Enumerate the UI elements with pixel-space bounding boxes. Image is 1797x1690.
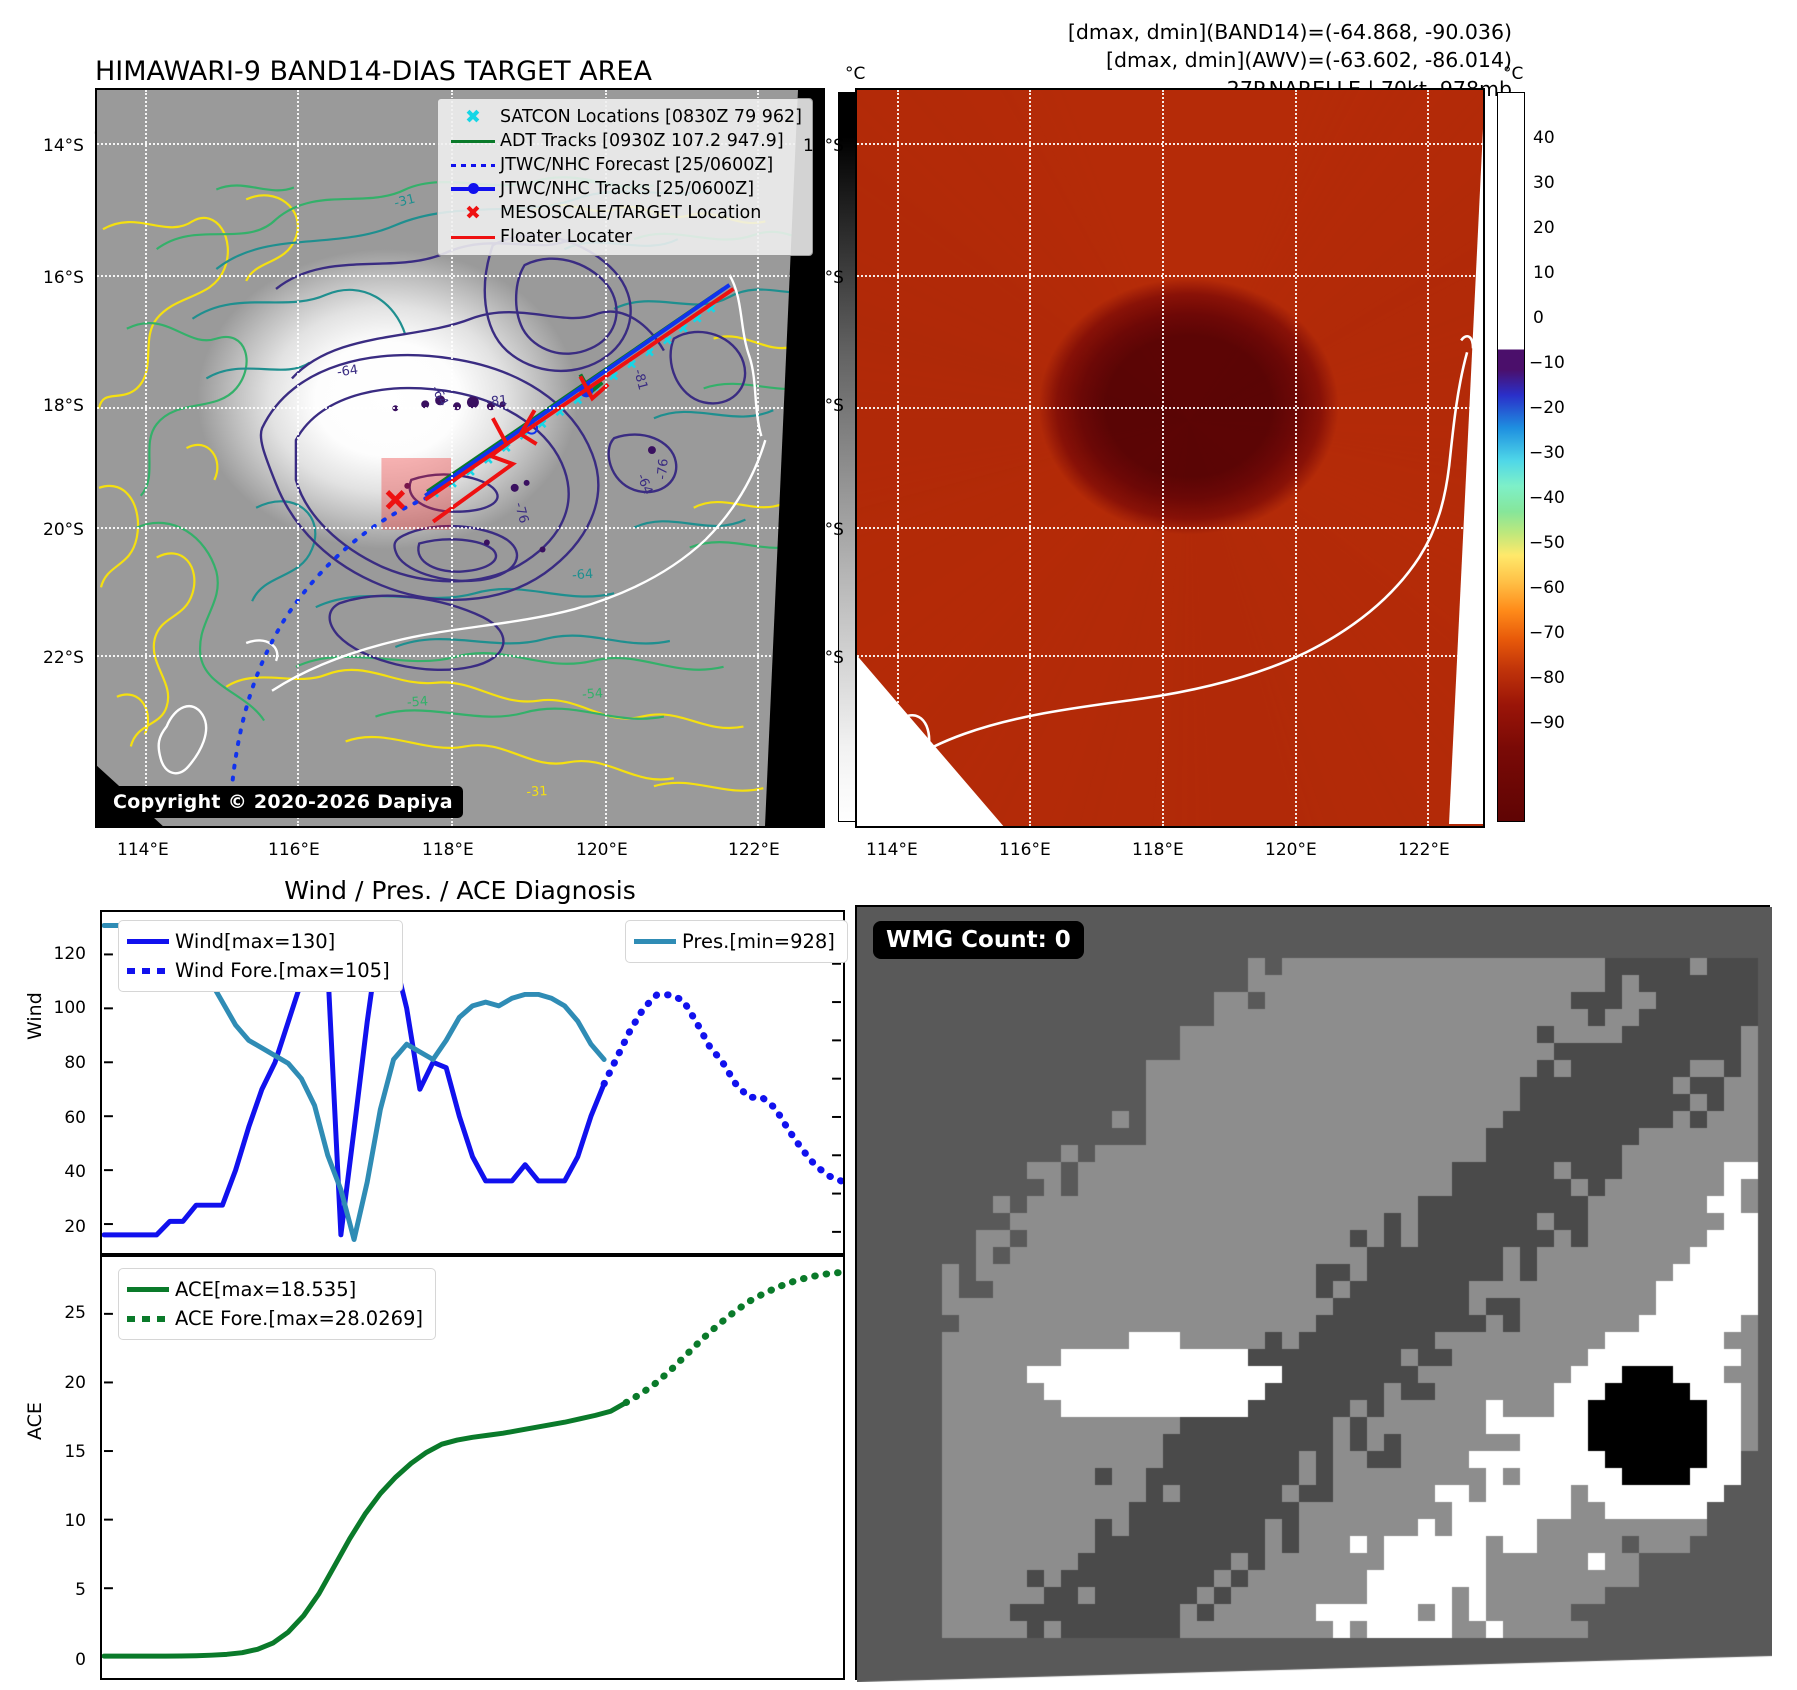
lon-tick: 114°E — [866, 840, 918, 860]
legend-item-adt: ADT Tracks [0930Z 107.2 947.9] — [446, 129, 802, 153]
grid-line — [145, 90, 147, 826]
cb-tick: 10 — [1533, 263, 1555, 283]
svg-text:-76: -76 — [511, 501, 531, 525]
cb-tick: 30 — [1533, 173, 1555, 193]
lat-tick: 16°S — [803, 268, 844, 288]
ir-colorbar-unit: °C — [845, 64, 865, 84]
legend-item-floater: Floater Locater — [446, 225, 802, 249]
grid-line — [297, 90, 299, 826]
map-legend: ✖ SATCON Locations [0830Z 79 962] ADT Tr… — [437, 98, 813, 256]
lat-tick: 18°S — [43, 396, 84, 416]
ace-line-icon — [127, 1287, 175, 1292]
cb-tick: −90 — [1529, 713, 1565, 733]
wmg-count-badge: WMG Count: 0 — [873, 921, 1084, 959]
y-tick: 15 — [64, 1442, 86, 1462]
pressure-legend: Pres.[min=928] — [625, 920, 848, 963]
lon-tick: 120°E — [576, 840, 628, 860]
grid-line — [97, 275, 823, 277]
grid-line — [857, 655, 1483, 657]
diagnosis-title: Wind / Pres. / ACE Diagnosis — [95, 876, 825, 905]
series-ace — [104, 1403, 626, 1657]
legend-item-wind-forecast: Wind Fore.[max=105] — [127, 956, 390, 985]
ace-forecast-dotted-icon — [127, 1316, 175, 1322]
lat-tick: 22°S — [803, 648, 844, 668]
legend-label: Wind Fore.[max=105] — [175, 959, 390, 982]
awv-range: [dmax, dmin](AWV)=(-63.602, -86.014) — [1068, 46, 1512, 74]
cb-tick: −70 — [1529, 623, 1565, 643]
svg-text:-64: -64 — [428, 383, 451, 409]
grid-line — [857, 527, 1483, 529]
legend-label: Pres.[min=928] — [682, 930, 835, 953]
grid-line — [1029, 90, 1031, 826]
contour-label: -64 — [336, 363, 359, 381]
cb-tick: −20 — [1529, 398, 1565, 418]
lon-tick: 116°E — [999, 840, 1051, 860]
cb-tick: −50 — [1529, 533, 1565, 553]
lon-tick: 116°E — [268, 840, 320, 860]
wind-legend: Wind[max=130] Wind Fore.[max=105] — [118, 920, 403, 992]
adt-line-icon — [446, 140, 500, 143]
y-tick: 100 — [54, 998, 86, 1018]
copyright-badge: Copyright © 2020-2026 Dapiya — [103, 786, 463, 818]
grid-line — [97, 655, 823, 657]
wmg-raster — [857, 907, 1772, 1682]
awv-map[interactable] — [855, 88, 1485, 828]
legend-label: JTWC/NHC Forecast [25/0600Z] — [500, 155, 773, 175]
y-tick: 5 — [75, 1580, 86, 1600]
awv-colorbar — [1497, 92, 1525, 822]
svg-text:-81: -81 — [630, 368, 650, 392]
mesoscale-x-icon: ✖ — [446, 202, 500, 224]
lat-tick: 20°S — [43, 520, 84, 540]
y-tick: 80 — [64, 1053, 86, 1073]
jtwc-forecast — [230, 498, 427, 806]
lon-tick: 114°E — [117, 840, 169, 860]
grid-line — [857, 407, 1483, 409]
ace-axis-title: ACE — [24, 1402, 46, 1440]
y-tick: 10 — [64, 1511, 86, 1531]
series-wind-fore- — [604, 995, 841, 1181]
legend-item-mesoscale: ✖ MESOSCALE/TARGET Location — [446, 201, 802, 225]
band14-range: [dmax, dmin](BAND14)=(-64.868, -90.036) — [1068, 18, 1512, 46]
legend-label: Wind[max=130] — [175, 930, 335, 953]
awv-image — [857, 90, 1483, 826]
dashboard-root: HIMAWARI-9 BAND14-DIAS TARGET AREA Time:… — [0, 0, 1797, 1690]
y-tick: 60 — [64, 1108, 86, 1128]
wind-axis-title: Wind — [24, 992, 46, 1040]
lon-tick: 122°E — [728, 840, 780, 860]
satcon-x-icon: ✖ — [446, 106, 500, 128]
lon-tick: 122°E — [1398, 840, 1450, 860]
legend-label: ADT Tracks [0930Z 107.2 947.9] — [500, 131, 784, 151]
wind-line-icon — [127, 939, 175, 944]
grid-line — [1427, 90, 1429, 826]
legend-item-pressure: Pres.[min=928] — [634, 927, 835, 956]
cb-tick: 20 — [1533, 218, 1555, 238]
pressure-line-icon — [634, 939, 682, 944]
ir-image: -64 -64 -81 -81 -64 -76 -76 -64 -31 -54 … — [97, 90, 823, 826]
lat-tick: 16°S — [43, 268, 84, 288]
svg-text:-64: -64 — [572, 567, 594, 583]
lat-tick: 18°S — [803, 396, 844, 416]
cb-tick: −10 — [1529, 353, 1565, 373]
grid-line — [1162, 90, 1164, 826]
series-ace-fore- — [626, 1272, 841, 1402]
legend-label: JTWC/NHC Tracks [25/0600Z] — [500, 179, 754, 199]
svg-text:-76: -76 — [655, 458, 672, 480]
legend-label: MESOSCALE/TARGET Location — [500, 203, 761, 223]
legend-label: Floater Locater — [500, 227, 632, 247]
legend-item-ace: ACE[max=18.535] — [127, 1275, 423, 1304]
lon-tick: 120°E — [1265, 840, 1317, 860]
y-tick: 120 — [54, 944, 86, 964]
y-tick: 0 — [75, 1650, 86, 1670]
forecast-dotted-icon — [446, 164, 500, 167]
legend-item-jtwc-tracks: JTWC/NHC Tracks [25/0600Z] — [446, 177, 802, 201]
lat-tick: 20°S — [803, 520, 844, 540]
grid-line — [1295, 90, 1297, 826]
svg-text:-54: -54 — [582, 686, 604, 702]
ace-legend: ACE[max=18.535] ACE Fore.[max=28.0269] — [118, 1268, 436, 1340]
y-tick: 20 — [64, 1217, 86, 1237]
svg-text:-64: -64 — [633, 472, 655, 497]
grid-line — [897, 90, 899, 826]
wind-forecast-dotted-icon — [127, 968, 175, 974]
product-title: HIMAWARI-9 BAND14-DIAS TARGET AREA — [95, 54, 652, 90]
legend-item-satcon: ✖ SATCON Locations [0830Z 79 962] — [446, 105, 802, 129]
legend-item-wind: Wind[max=130] — [127, 927, 390, 956]
legend-item-ace-forecast: ACE Fore.[max=28.0269] — [127, 1304, 423, 1333]
floater-line-icon — [446, 236, 500, 239]
lat-tick: 14°S — [43, 136, 84, 156]
y-tick: 40 — [64, 1162, 86, 1182]
grid-line — [97, 407, 823, 409]
svg-text:-54: -54 — [407, 694, 429, 710]
svg-text:-31: -31 — [393, 192, 417, 212]
track-node-icon — [446, 187, 500, 191]
grid-line — [97, 527, 823, 529]
legend-label: SATCON Locations [0830Z 79 962] — [500, 107, 802, 127]
legend-label: ACE Fore.[max=28.0269] — [175, 1307, 423, 1330]
y-tick: 20 — [64, 1373, 86, 1393]
lon-tick: 118°E — [1132, 840, 1184, 860]
cb-tick: −40 — [1529, 488, 1565, 508]
legend-label: ACE[max=18.535] — [175, 1278, 356, 1301]
cb-tick: 40 — [1533, 128, 1555, 148]
cb-tick: −60 — [1529, 578, 1565, 598]
cb-tick: −80 — [1529, 668, 1565, 688]
legend-item-jtwc-forecast: JTWC/NHC Forecast [25/0600Z] — [446, 153, 802, 177]
awv-coastline — [857, 90, 1483, 825]
cb-tick: 0 — [1533, 308, 1544, 328]
lat-tick: 22°S — [43, 648, 84, 668]
wmg-map[interactable]: WMG Count: 0 — [855, 905, 1770, 1680]
grid-line — [857, 143, 1483, 145]
awv-colorbar-unit: °C — [1503, 64, 1523, 84]
lat-tick: 14°S — [803, 136, 844, 156]
grid-line — [857, 275, 1483, 277]
y-tick: 25 — [64, 1303, 86, 1323]
ir-band14-map[interactable]: -64 -64 -81 -81 -64 -76 -76 -64 -31 -54 … — [95, 88, 825, 828]
svg-text:-31: -31 — [526, 784, 548, 800]
lon-tick: 118°E — [422, 840, 474, 860]
cb-tick: −30 — [1529, 443, 1565, 463]
